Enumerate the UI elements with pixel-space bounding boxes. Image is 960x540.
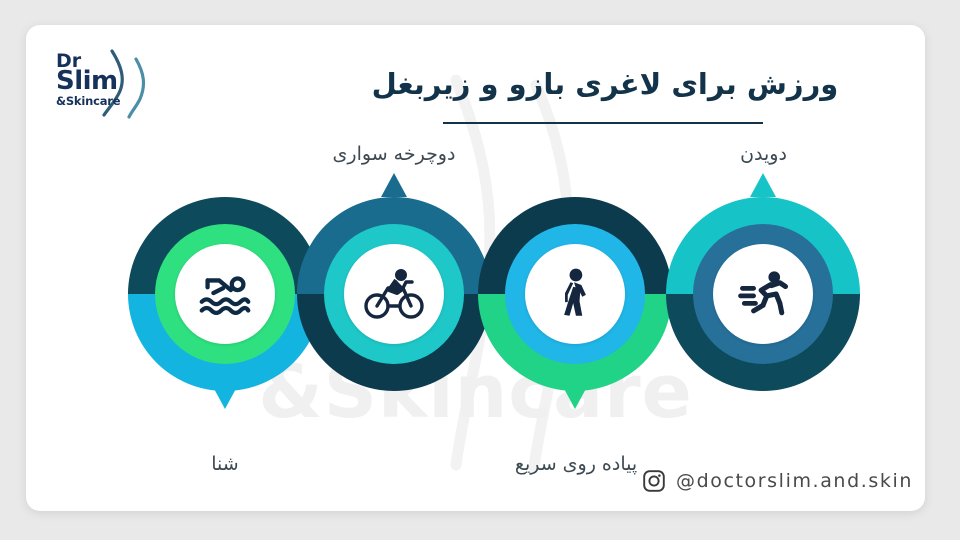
infographic-canvas: &Skincare Dr Slim &Skincare ورزش برای لا… <box>0 0 960 540</box>
step-icon-disc <box>525 244 625 344</box>
step-brisk-walking[interactable] <box>478 197 672 391</box>
page-title: ورزش برای لاغری بازو و زیربغل <box>325 67 885 101</box>
label-running: دویدن <box>676 143 851 165</box>
cyclist-icon <box>362 262 426 326</box>
logo-line-skincare: &Skincare <box>56 96 120 107</box>
step-cycling[interactable] <box>297 197 491 391</box>
content-card: &Skincare Dr Slim &Skincare ورزش برای لا… <box>26 25 925 511</box>
label-swimming: شنا <box>148 453 302 475</box>
pointer-down <box>212 385 238 409</box>
swimmer-icon <box>194 263 256 325</box>
step-swimming[interactable] <box>128 197 322 391</box>
pointer-up <box>750 173 776 197</box>
step-icon-disc <box>344 244 444 344</box>
pointer-up <box>381 173 407 197</box>
step-running[interactable] <box>666 197 860 391</box>
runner-icon <box>733 264 793 324</box>
brand-logo: Dr Slim &Skincare <box>46 37 156 129</box>
instagram-footer[interactable]: @doctorslim.and.skin <box>642 469 913 493</box>
step-icon-disc <box>713 244 813 344</box>
pointer-down <box>562 385 588 409</box>
logo-wordmark: Dr Slim &Skincare <box>56 53 120 107</box>
walking-person-icon <box>546 265 604 323</box>
label-cycling: دوچرخه سواری <box>294 143 494 165</box>
instagram-icon[interactable] <box>642 469 666 493</box>
logo-line-slim: Slim <box>56 70 120 94</box>
step-icon-disc <box>175 244 275 344</box>
instagram-handle[interactable]: @doctorslim.and.skin <box>676 470 913 492</box>
title-underline <box>443 122 763 124</box>
